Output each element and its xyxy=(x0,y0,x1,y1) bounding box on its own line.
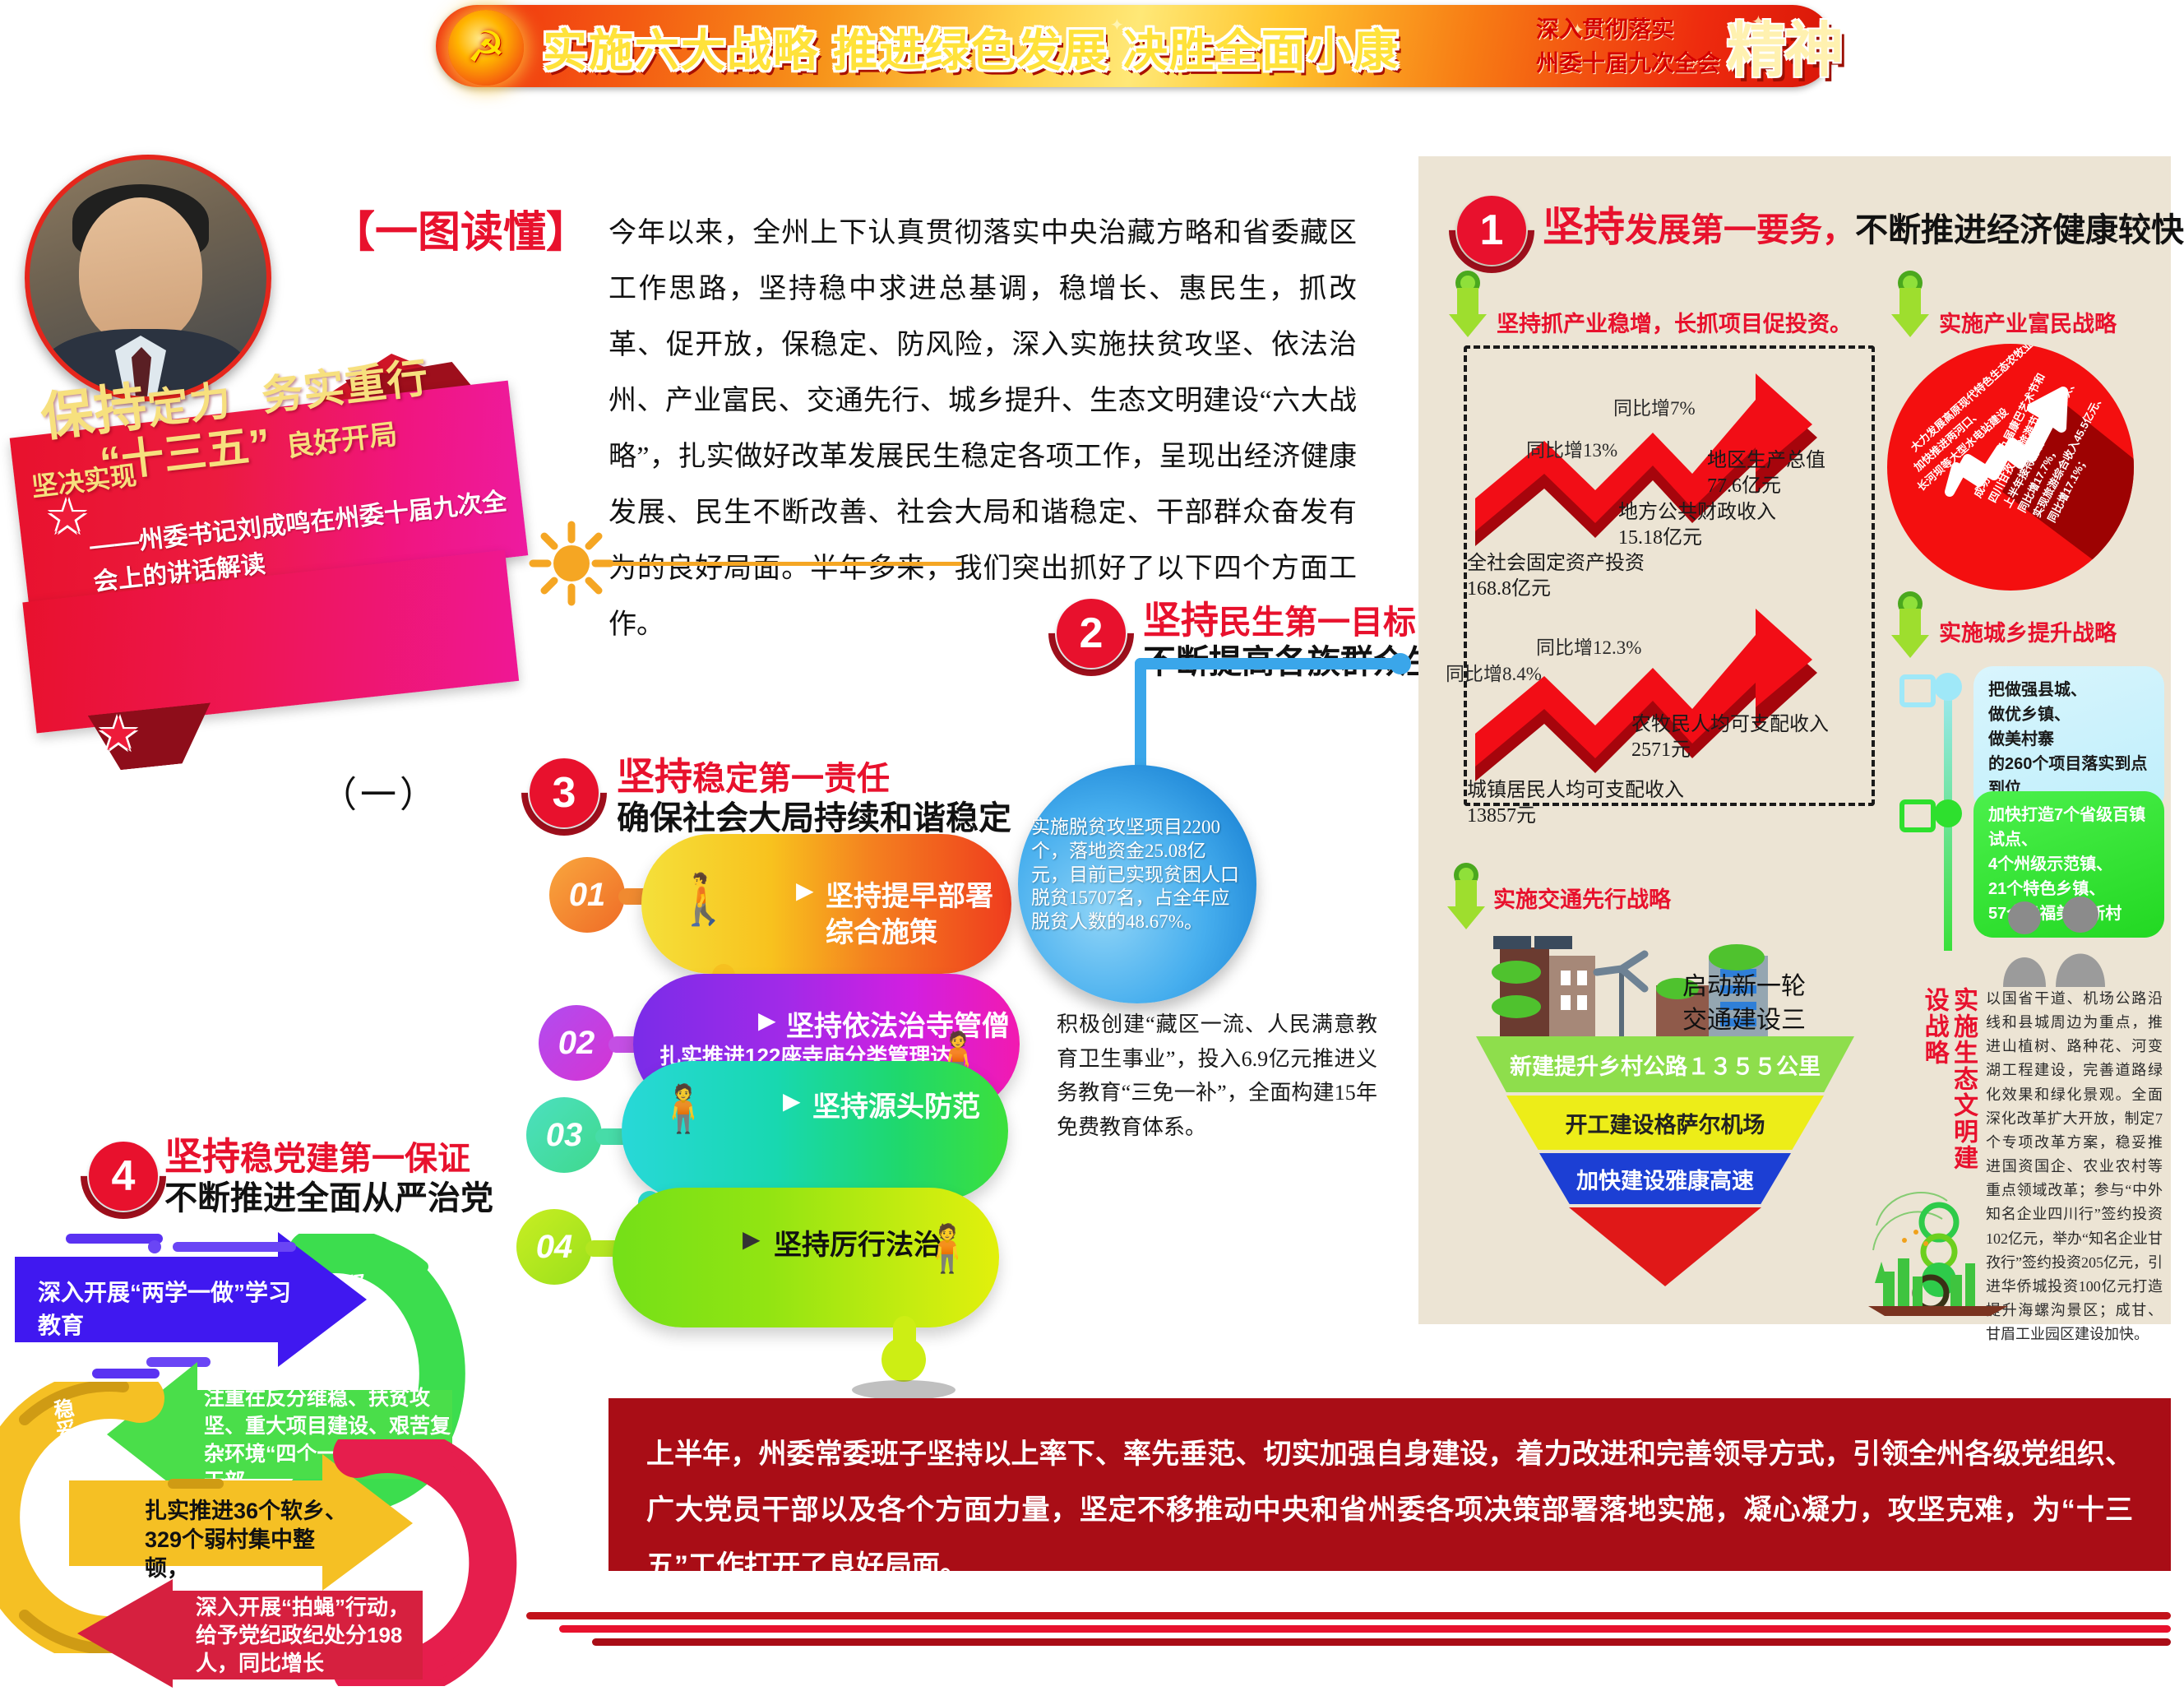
section2-number: 2 xyxy=(1057,599,1126,668)
pill-01-title2: 综合施策 xyxy=(826,910,937,950)
metric-rural-value: 2571元 xyxy=(1631,738,1829,763)
education-paragraph: 积极创建“藏区一流、人民满意教育卫生事业”，投入6.9亿元推进义务教育“三免一补… xyxy=(1057,1008,1377,1144)
urban-bubble-2-l1: 加快打造7个省级百镇试点、 xyxy=(1988,803,2149,852)
blue-deco-bar-2 xyxy=(173,1242,296,1252)
section1-keyword: 坚持 xyxy=(1543,204,1625,250)
person-speaking-icon: 🚶 xyxy=(673,875,734,924)
blue-deco-dot xyxy=(148,1240,161,1253)
orange-deco-bar xyxy=(168,1479,224,1489)
read-at-a-glance-tag: 【一图读懂】 xyxy=(332,197,589,259)
growth-label-13: 同比增13% xyxy=(1526,434,1617,462)
pill-04[interactable]: ▶ 坚持厉行法治 🧍 xyxy=(613,1188,999,1327)
section1-number: 1 xyxy=(1457,196,1526,265)
metric-gdp-value: 77.6亿元 xyxy=(1707,474,1825,499)
pill-04-title: 坚持厉行法治 xyxy=(774,1222,942,1263)
pill-03-title: 坚持源头防范 xyxy=(812,1084,980,1124)
blue-connector-vertical xyxy=(1135,658,1146,773)
section1-title-red-rest: 发展第一要务， xyxy=(1625,212,1855,248)
growth-label-123: 同比增12.3% xyxy=(1536,632,1641,660)
metric-gdp: 地区生产总值 77.6亿元 xyxy=(1707,448,1825,499)
growth-label-84: 同比增8.4% xyxy=(1446,658,1542,686)
pill-03[interactable]: 🧍 ▶ 坚持源头防范 xyxy=(622,1061,1008,1201)
industry-prosperity-circle: 大力发展高原现代特色生态农牧业， 加快推进两河口、 长河坝等大型水电站建设 成功… xyxy=(1887,344,2134,591)
green-pin-arrow-b-icon xyxy=(1891,270,1929,343)
play-icon: ▶ xyxy=(758,1007,776,1034)
section3-title-black: 确保社会大局持续和谐稳定 xyxy=(617,791,1011,839)
section4-title-black: 不断推进全面从严治党 xyxy=(164,1171,493,1219)
metric-urban-value: 13857元 xyxy=(1467,804,1684,829)
sun-icon xyxy=(526,518,617,609)
metric-investment-name: 全社会固定资产投资 xyxy=(1467,551,1645,577)
people-silhouette-icon xyxy=(1982,897,2130,991)
calendar-icon-2 xyxy=(1899,799,1936,832)
strategy-label-c: 实施城乡提升战略 xyxy=(1939,615,2117,647)
pill-01-title: 坚持提早部署 xyxy=(826,873,993,914)
header-title: 实施六大战略 推进绿色发展 决胜全面小康 xyxy=(543,13,1480,79)
green-city-island-icon xyxy=(1868,1151,2008,1320)
urban-bubble-1-l3: 做美村寨 xyxy=(1988,727,2149,752)
urban-bubble-1-l1: 把做强县城、 xyxy=(1988,678,2149,702)
play-icon: ▶ xyxy=(743,1225,761,1253)
metric-urban-income: 城镇居民人均可支配收入 13857元 xyxy=(1467,778,1684,829)
urban-bubble-2-l2: 4个州级示范镇、 xyxy=(1988,852,2149,877)
sun-connector-line xyxy=(608,562,962,566)
pill-number-03[interactable]: 03 xyxy=(526,1097,602,1173)
pill-01[interactable]: 🚶 ▶ 坚持提早部署 综合施策 xyxy=(641,834,1011,974)
metric-fiscal-name: 地方公共财政收入 xyxy=(1618,500,1776,526)
growth-label-7: 同比增7% xyxy=(1613,392,1696,420)
green-pin-arrow-a-icon xyxy=(1449,270,1487,343)
page-number: （一） xyxy=(321,765,439,818)
red-arrow-text: 深入开展“拍蝇”行动，给予党纪政纪处分198人，同比增长44.52%。 xyxy=(196,1594,418,1705)
section3-number: 3 xyxy=(530,758,599,827)
pill-number-02[interactable]: 02 xyxy=(539,1005,614,1081)
funnel-band-3: 加快建设雅康高速 xyxy=(1539,1153,1791,1204)
section1-title-black: 不断推进经济健康较快发展。 xyxy=(1855,212,2184,248)
metric-fiscal-value: 15.18亿元 xyxy=(1618,526,1776,551)
green-pin-arrow-c-icon xyxy=(1891,591,1929,664)
section4-number: 4 xyxy=(89,1142,158,1211)
pill-number-01[interactable]: 01 xyxy=(549,857,625,933)
play-icon: ▶ xyxy=(796,877,814,904)
metric-urban-name: 城镇居民人均可支配收入 xyxy=(1467,778,1684,804)
timeline-dot-2 xyxy=(1934,799,1962,827)
poverty-alleviation-circle: 实施脱贫攻坚项目2200个，落地资金25.08亿元，目前已实现贫困人口脱贫157… xyxy=(1018,765,1256,1003)
eco-strategy-body: 以国省干道、机场公路沿线和县城周边为重点，推进山植树、路种花、河变湖工程建设，完… xyxy=(1986,987,2163,1346)
party-emblem-icon: ☭ xyxy=(448,10,524,86)
urban-bubble-1-l2: 做优乡镇、 xyxy=(1988,702,2149,727)
pill-shadow xyxy=(852,1380,955,1400)
blue-connector-cap xyxy=(1390,653,1411,674)
funnel-band-1: 新建提升乡村公路１３５５公里 xyxy=(1476,1036,1854,1092)
strategy-label-d: 实施交通先行战略 xyxy=(1493,882,1671,914)
metric-rural-name: 农牧民人均可支配收入 xyxy=(1631,712,1829,738)
metric-gdp-name: 地区生产总值 xyxy=(1707,448,1825,474)
play-icon: ▶ xyxy=(783,1087,801,1114)
header-spirit-word: 精神 xyxy=(1706,3,1862,86)
photo-face xyxy=(79,197,202,345)
metric-fiscal: 地方公共财政收入 15.18亿元 xyxy=(1618,500,1776,551)
person-phone-icon: 🧍 xyxy=(655,1086,712,1132)
blue-deco-bar-1 xyxy=(66,1234,163,1244)
star-icon: ★ xyxy=(97,706,140,762)
intro-paragraph: 今年以来，全州上下认真贯彻落实中央治藏方略和省委藏区工作思路，坚持稳中求进总基调… xyxy=(608,206,1357,653)
timeline-dot-1 xyxy=(1934,673,1962,701)
metric-rural-income: 农牧民人均可支配收入 2571元 xyxy=(1631,712,1829,763)
person-desk-icon: 🧍 xyxy=(918,1225,976,1272)
pill-number-04[interactable]: 04 xyxy=(516,1209,592,1285)
blue-connector-horizontal xyxy=(1135,658,1400,669)
conclusion-banner: 上半年，州委常委班子坚持以上率下、率先垂范、切实加强自身建设，着力改进和完善领导… xyxy=(608,1398,2171,1571)
bottom-stripes xyxy=(526,1612,2171,1647)
section1-title: 坚持发展第一要务，不断推进经济健康较快发展。 xyxy=(1543,194,2184,253)
funnel-band-2: 开工建设格萨尔机场 xyxy=(1506,1096,1824,1150)
ribbon-quote-after: 良好开局 xyxy=(285,419,399,462)
pill-04-dot xyxy=(881,1337,926,1382)
blue-arrow-text: 深入开展“两学一做”学习教育 xyxy=(38,1275,309,1341)
calendar-icon-1 xyxy=(1899,674,1936,707)
strategy-label-b: 实施产业富民战略 xyxy=(1939,306,2117,338)
strategy-label-a: 坚持抓产业稳增，长抓项目促投资。 xyxy=(1497,306,1852,338)
